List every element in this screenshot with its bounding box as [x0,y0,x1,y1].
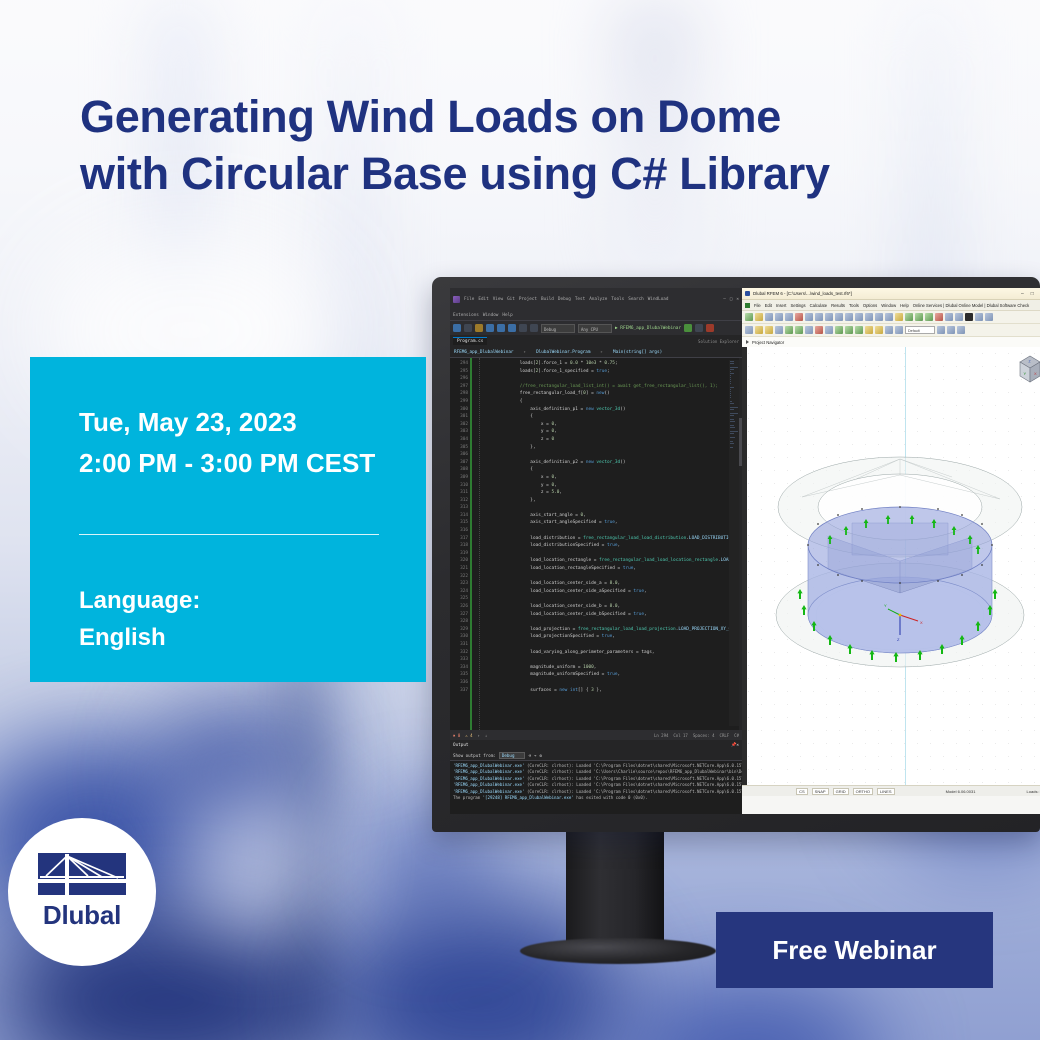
load-case-select[interactable]: Default [905,326,935,334]
output-show-label: Show output from: [453,753,496,758]
view-xz-icon[interactable] [865,313,873,321]
hot-reload-icon[interactable] [695,324,703,332]
surface-icon[interactable] [785,326,793,334]
result-diagram-icon[interactable] [925,313,933,321]
vs-toolbar[interactable]: Debug Any CPU ▶ RFEM6_app_DlubalWebinar [450,320,742,335]
visual-studio-window[interactable]: File Edit View Git Project Build Debug T… [450,288,742,814]
language-value: English [79,624,426,652]
line-load-icon[interactable] [845,326,853,334]
vs-menu-item-9[interactable]: Tools [611,297,624,302]
output-close-icon[interactable]: ✕ [736,743,739,748]
rfem-menu-item-8[interactable]: Window [881,303,896,308]
new-file-icon[interactable] [475,324,483,332]
build-platform-select[interactable]: Any CPU [578,324,612,333]
code-minimap[interactable] [729,360,739,726]
vs-menu-item-2[interactable]: View [493,297,503,302]
chevron-right-icon-2: ▸ [600,350,603,355]
output-settings-icon[interactable]: ⚙ [540,753,543,758]
output-log[interactable]: 'RFEM6_app_DlubalWebinar.exe' (CoreCLR: … [450,761,742,814]
svg-text:Y: Y [884,603,887,608]
vs-menu-item-8[interactable]: Analyze [589,297,607,302]
save-model-icon[interactable] [765,313,773,321]
rfem-menu-item-9[interactable]: Help [900,303,909,308]
vs-search-box[interactable]: Search [628,297,644,302]
free-rectangular-load-icon[interactable] [865,326,873,334]
indent-spaces[interactable]: Spaces: 4 [693,733,715,738]
rfem-work-area[interactable]: Y X Z [742,347,1040,785]
nodal-load-icon[interactable] [835,326,843,334]
rfem-menu-item-3[interactable]: Settings [790,303,805,308]
output-source-bar[interactable]: Show output from: Debug ⌫ ↷ ⚙ [450,750,742,761]
page-title-line-2: with Circular Base using C# Library [80,145,940,202]
zoom-icon[interactable] [975,313,983,321]
bridge-mark-icon [38,853,126,897]
vs-solution-name: WindLoad [648,297,669,302]
calculate-all-icon[interactable] [895,313,903,321]
output-panel-title: Output [453,743,469,748]
line-icon[interactable] [765,326,773,334]
output-clear-icon[interactable]: ⌫ [528,753,531,758]
vs-menu-bar-row2[interactable]: Extensions Window Help [450,310,742,320]
output-panel-header: Output 📌 ✕ [450,740,742,750]
save-icon[interactable] [497,324,505,332]
line-number-gutter: 294 295 296 297 298 299 300 301 302 303 … [450,358,470,730]
vs-menu-item-5[interactable]: Build [541,297,554,302]
vs-document-tabs[interactable]: Program.cs Solution Explorer [450,335,742,347]
webinar-info-panel: Tue, May 23, 2023 2:00 PM - 3:00 PM CEST… [30,357,426,682]
line-endings[interactable]: CRLF [720,733,730,738]
warning-count-value: 4 [470,733,472,738]
printout-report-icon[interactable] [785,313,793,321]
status-cell-0[interactable]: CS [796,788,808,795]
vs-menu-item-7[interactable]: Test [575,297,585,302]
wind-simulation-icon[interactable] [895,326,903,334]
results-on-icon[interactable] [915,313,923,321]
output-wrap-icon[interactable]: ↷ [534,753,537,758]
language-label: Language: [79,587,426,615]
rfem-app-icon [745,291,750,296]
free-circular-load-icon[interactable] [875,326,883,334]
run-button: ▶ RFEM6_app_DlubalWebinar [615,326,681,331]
page-title: Generating Wind Loads on Dome with Circu… [80,88,940,202]
redo-icon-rfem[interactable] [835,313,843,321]
dlubal-wordmark: Dlubal [43,900,121,931]
rfem-menu-item-4[interactable]: Calculate [810,303,827,308]
display-properties-icon[interactable] [965,313,973,321]
undo-icon-rfem[interactable] [825,313,833,321]
surface-load-icon[interactable] [855,326,863,334]
cursor-col: Col 17 [673,733,687,738]
forward-icon[interactable] [464,324,472,332]
rfem-status-loadcase: Loads: LC1 [1027,789,1040,794]
render-solid-icon[interactable] [885,313,893,321]
select-icon[interactable] [745,326,753,334]
cursor-line: Ln 294 [654,733,668,738]
rfem-menu-icon [745,303,750,308]
paste-icon[interactable] [815,313,823,321]
run-target-label: RFEM6_app_DlubalWebinar [620,326,681,331]
monitor-stand-neck [566,826,664,944]
vs-menu-item-6[interactable]: Debug [558,297,571,302]
rfem-status-bar: CS SNAP GRID ORTHO LINES Model 6.06.0031… [742,785,1040,796]
node-icon[interactable] [755,326,763,334]
editor-language: C# [734,733,739,738]
vs-tab-right-label: Solution Explorer [698,339,742,344]
monitor-stand-base [520,938,716,964]
cylinder-top-cap [808,507,992,583]
rfem-navigator-bar[interactable]: Project Navigator [742,337,1040,347]
vs-menu-item-11[interactable]: Window [483,313,499,318]
status-cell-3[interactable]: ORTHO [853,788,873,795]
free-webinar-button[interactable]: Free Webinar [716,912,993,988]
rfem-maximize-button[interactable]: □ [1029,291,1036,297]
pdf-export-icon[interactable] [795,313,803,321]
vs-menu-item-12[interactable]: Help [502,313,512,318]
code-fold-column[interactable] [473,358,480,730]
vs-maximize-button[interactable]: □ [730,297,733,302]
solid-icon[interactable] [795,326,803,334]
opening-icon[interactable] [805,326,813,334]
free-webinar-label: Free Webinar [772,935,936,966]
rfem-status-version: Model 6.06.0031 [946,789,976,794]
nav-up-icon[interactable]: ↑ [478,733,480,738]
webinar-time: 2:00 PM - 3:00 PM CEST [79,443,426,484]
rfem-menu-right-label[interactable]: Online Services | Dlubal Online Model | … [913,303,1029,308]
breadcrumb-project[interactable]: RFEM6_app_DlubalWebinar [454,350,514,355]
save-all-icon[interactable] [508,324,516,332]
rfem-menu-item-0[interactable]: File [754,303,761,308]
pan-icon[interactable] [985,313,993,321]
rfem-title-bar: Dlubal RFEM 6 - [C:\Users\...\wind_loads… [742,288,1040,300]
vs-menu-bar[interactable]: File Edit View Git Project Build Debug T… [450,288,742,310]
output-source-select[interactable]: Debug [499,752,526,759]
vs-minimize-button[interactable]: – [723,297,726,302]
rfem-toolbar-row-2[interactable]: Default [742,324,1040,337]
monitor-bezel: File Edit View Git Project Build Debug T… [432,277,1040,832]
rfem-menu-item-1[interactable]: Edit [765,303,772,308]
open-model-icon[interactable] [755,313,763,321]
svg-text:X: X [920,620,923,625]
status-cell-2[interactable]: GRID [833,788,849,795]
vs-code-editor[interactable]: 294 295 296 297 298 299 300 301 302 303 … [450,358,742,730]
monitor: File Edit View Git Project Build Debug T… [432,277,1040,832]
load-case-icon[interactable] [955,313,963,321]
vs-menu-item-0[interactable]: File [464,297,474,302]
open-file-icon[interactable] [486,324,494,332]
vs-close-button[interactable]: ✕ [736,297,739,302]
delete-results-icon[interactable] [935,313,943,321]
grid-settings-icon[interactable] [957,326,965,334]
load-wizard-icon[interactable] [945,313,953,321]
member-icon[interactable] [775,326,783,334]
status-cell-4[interactable]: LINES [877,788,895,795]
vs-menu-item-10[interactable]: Extensions [453,313,479,318]
vs-menu-item-3[interactable]: Git [507,297,515,302]
rfem-menu-bar[interactable]: File Edit Insert Settings Calculate Resu… [742,300,1040,311]
print-icon[interactable] [775,313,783,321]
view-xy-icon[interactable] [855,313,863,321]
rfem-menu-item-2[interactable]: Insert [776,303,786,308]
warning-count[interactable]: ⚠ 4 [465,733,472,738]
imperfection-icon[interactable] [885,326,893,334]
calculate-icon[interactable] [905,313,913,321]
change-indicator-bar [470,358,472,730]
rfem-menu-item-7[interactable]: Options [863,303,877,308]
view-yz-icon[interactable] [875,313,883,321]
tab-program-cs[interactable]: Program.cs [453,337,487,345]
rfem-minimize-button[interactable]: – [1019,291,1026,297]
rfem-window-title: Dlubal RFEM 6 - [C:\Users\...\wind_loads… [753,291,852,296]
undo-icon[interactable] [519,324,527,332]
dlubal-logo-badge[interactable]: Dlubal [8,818,156,966]
build-configuration-select[interactable]: Debug [541,324,575,333]
rfem-window[interactable]: Dlubal RFEM 6 - [C:\Users\...\wind_loads… [742,288,1040,814]
start-debug-icon[interactable] [684,324,692,332]
page-title-line-1: Generating Wind Loads on Dome [80,88,940,145]
view-iso-icon[interactable] [845,313,853,321]
rfem-navigator-label[interactable]: Project Navigator [752,340,784,345]
rfem-menu-item-6[interactable]: Tools [849,303,859,308]
vs-menu-item-1[interactable]: Edit [478,297,488,302]
nav-down-icon[interactable]: ↓ [485,733,487,738]
vs-breadcrumb[interactable]: RFEM6_app_DlubalWebinar ▸ DlubalWebinar.… [450,347,742,358]
redo-icon[interactable] [530,324,538,332]
vs-menu-item-4[interactable]: Project [519,297,537,302]
back-icon[interactable] [453,324,461,332]
error-count-value: 0 [458,733,460,738]
visual-studio-icon [453,296,460,303]
chevron-right-icon-nav[interactable] [746,340,749,344]
stop-icon[interactable] [706,324,714,332]
breadcrumb-class[interactable]: DlubalWebinar.Program [536,350,590,355]
rfem-toolbar-row-1[interactable] [742,311,1040,324]
breadcrumb-method[interactable]: Main(string[] args) [613,350,662,355]
info-panel-divider [79,534,379,535]
bg-light-3 [180,790,330,920]
copy-icon[interactable] [805,313,813,321]
error-count[interactable]: ✖ 0 [453,733,460,738]
rfem-menu-item-5[interactable]: Results [831,303,845,308]
snap-settings-icon[interactable] [947,326,955,334]
status-cell-1[interactable]: SNAP [812,788,829,795]
monitor-screen: File Edit View Git Project Build Debug T… [450,288,1040,814]
dome-model-3d[interactable]: X Y Z [742,347,1040,785]
hinge-icon[interactable] [825,326,833,334]
chevron-right-icon: ▸ [524,350,527,355]
vs-editor-status-bar: ✖ 0 ⚠ 4 ↑ ↓ Ln 294 Col 17 Spaces: 4 CRLF… [450,730,742,740]
measure-icon[interactable] [937,326,945,334]
support-icon[interactable] [815,326,823,334]
new-model-icon[interactable] [745,313,753,321]
webinar-date: Tue, May 23, 2023 [79,402,426,443]
code-text[interactable]: loads[2].force_1 = 0.0 * 10e3 * 0.75; lo… [480,358,742,730]
